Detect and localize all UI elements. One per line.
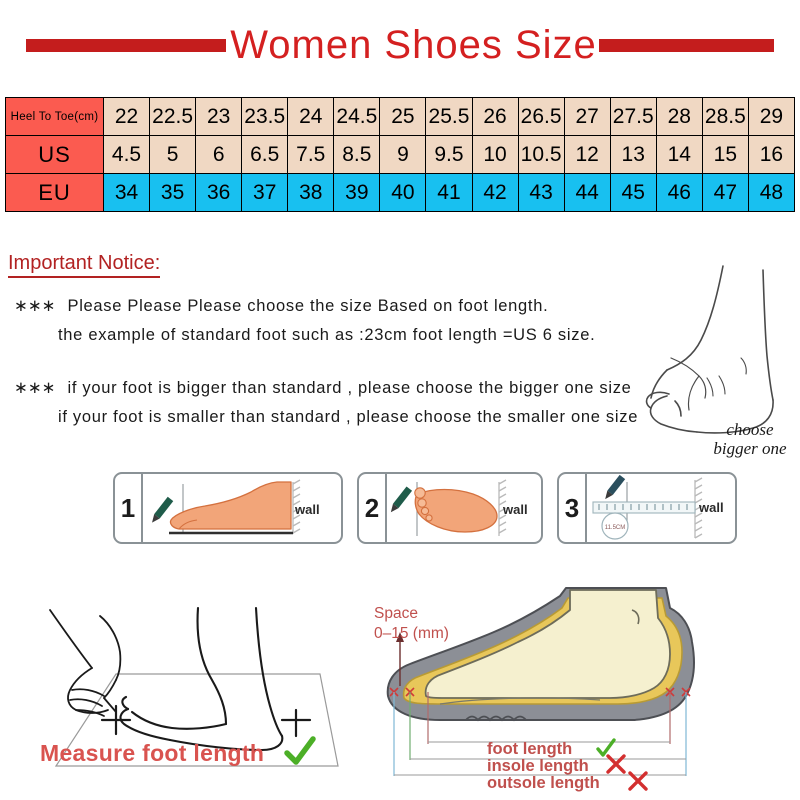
cell-heel-9: 26.5: [518, 98, 564, 136]
cross-mark-icon-outsole-length: [627, 770, 649, 792]
step-number-1: 1: [115, 474, 143, 542]
table-row-heel-to-toe: Heel To Toe(cm) 22 22.5 23 23.5 24 24.5 …: [6, 98, 795, 136]
row-label-heel-to-toe: Heel To Toe(cm): [6, 98, 104, 136]
cell-heel-13: 28.5: [702, 98, 748, 136]
cell-us-7: 9.5: [426, 136, 472, 174]
cell-heel-6: 25: [380, 98, 426, 136]
cell-heel-8: 26: [472, 98, 518, 136]
cell-us-14: 16: [748, 136, 794, 174]
step-3-artwork: 11.5CM wall: [587, 474, 735, 542]
cell-us-5: 8.5: [334, 136, 380, 174]
bullet-stars-1: ∗∗∗: [14, 297, 55, 315]
cell-heel-1: 22.5: [150, 98, 196, 136]
cell-us-2: 6: [196, 136, 242, 174]
cell-heel-7: 25.5: [426, 98, 472, 136]
cell-heel-2: 23: [196, 98, 242, 136]
space-label: Space 0–15 (mm): [374, 604, 449, 644]
step-number-2: 2: [359, 474, 387, 542]
size-chart-table: Heel To Toe(cm) 22 22.5 23 23.5 24 24.5 …: [5, 97, 795, 212]
notice-text-1a: Please Please Please choose the size Bas…: [67, 297, 548, 315]
cell-us-10: 12: [564, 136, 610, 174]
choose-bigger-line2: bigger one: [695, 439, 800, 458]
cell-heel-10: 27: [564, 98, 610, 136]
ruler-badge-text: 11.5CM: [605, 525, 626, 531]
cell-heel-12: 28: [656, 98, 702, 136]
cell-us-9: 10.5: [518, 136, 564, 174]
title-rule-right: [599, 39, 774, 52]
choose-bigger-caption: choose bigger one: [695, 420, 800, 458]
title-rule-left: [26, 39, 226, 52]
row-label-us: US: [6, 136, 104, 174]
row-label-eu: EU: [6, 174, 104, 212]
cross-mark-icon-insole-length: [605, 753, 627, 775]
cell-eu-9: 43: [518, 174, 564, 212]
notice-text-2a: if your foot is bigger than standard , p…: [67, 379, 631, 397]
cell-us-8: 10: [472, 136, 518, 174]
choose-bigger-line1: choose: [695, 420, 800, 439]
cell-us-4: 7.5: [288, 136, 334, 174]
step-1-artwork: wall: [143, 474, 341, 542]
cell-eu-3: 37: [242, 174, 288, 212]
cell-heel-0: 22: [104, 98, 150, 136]
measure-steps: 1: [113, 472, 658, 544]
cell-eu-8: 42: [472, 174, 518, 212]
wall-label-3: wall: [699, 500, 724, 515]
page-title-bar: Women Shoes Size: [0, 22, 800, 68]
step-panel-2: 2: [357, 472, 543, 544]
notice-line-2b: if your foot is smaller than standard , …: [58, 408, 638, 427]
cell-us-6: 9: [380, 136, 426, 174]
bullet-stars-2: ∗∗∗: [14, 379, 55, 397]
table-row-us: US 4.5 5 6 6.5 7.5 8.5 9 9.5 10 10.5 12 …: [6, 136, 795, 174]
step-panel-1: 1: [113, 472, 343, 544]
important-notice-heading: Important Notice:: [8, 252, 160, 278]
cell-eu-11: 45: [610, 174, 656, 212]
wall-label-1: wall: [295, 502, 320, 517]
cell-us-11: 13: [610, 136, 656, 174]
notice-line-1a: ∗∗∗Please Please Please choose the size …: [14, 296, 548, 316]
space-label-line2: 0–15 (mm): [374, 624, 449, 644]
cell-us-3: 6.5: [242, 136, 288, 174]
cell-heel-4: 24: [288, 98, 334, 136]
cell-eu-7: 41: [426, 174, 472, 212]
cell-heel-14: 29: [748, 98, 794, 136]
cell-heel-3: 23.5: [242, 98, 288, 136]
cell-eu-14: 48: [748, 174, 794, 212]
cell-eu-12: 46: [656, 174, 702, 212]
page-title: Women Shoes Size: [230, 23, 597, 68]
wall-label-2: wall: [503, 502, 528, 517]
cell-heel-11: 27.5: [610, 98, 656, 136]
cell-eu-13: 47: [702, 174, 748, 212]
cell-eu-10: 44: [564, 174, 610, 212]
cell-eu-2: 36: [196, 174, 242, 212]
cell-us-12: 14: [656, 136, 702, 174]
cell-eu-0: 34: [104, 174, 150, 212]
cell-eu-1: 35: [150, 174, 196, 212]
step-2-artwork: wall: [387, 474, 541, 542]
cell-heel-5: 24.5: [334, 98, 380, 136]
cell-us-1: 5: [150, 136, 196, 174]
cell-us-0: 4.5: [104, 136, 150, 174]
table-row-eu: EU 34 35 36 37 38 39 40 41 42 43 44 45 4…: [6, 174, 795, 212]
cell-eu-5: 39: [334, 174, 380, 212]
measure-foot-length-caption: Measure foot length: [40, 740, 264, 767]
cell-us-13: 15: [702, 136, 748, 174]
cell-eu-6: 40: [380, 174, 426, 212]
step-number-3: 3: [559, 474, 587, 542]
space-label-line1: Space: [374, 604, 449, 624]
notice-line-2a: ∗∗∗if your foot is bigger than standard …: [14, 378, 632, 398]
check-mark-icon: [283, 735, 317, 769]
notice-line-1b: the example of standard foot such as :23…: [58, 326, 595, 345]
cell-eu-4: 38: [288, 174, 334, 212]
label-outsole-length: outsole length: [487, 774, 600, 793]
step-panel-3: 3: [557, 472, 737, 544]
